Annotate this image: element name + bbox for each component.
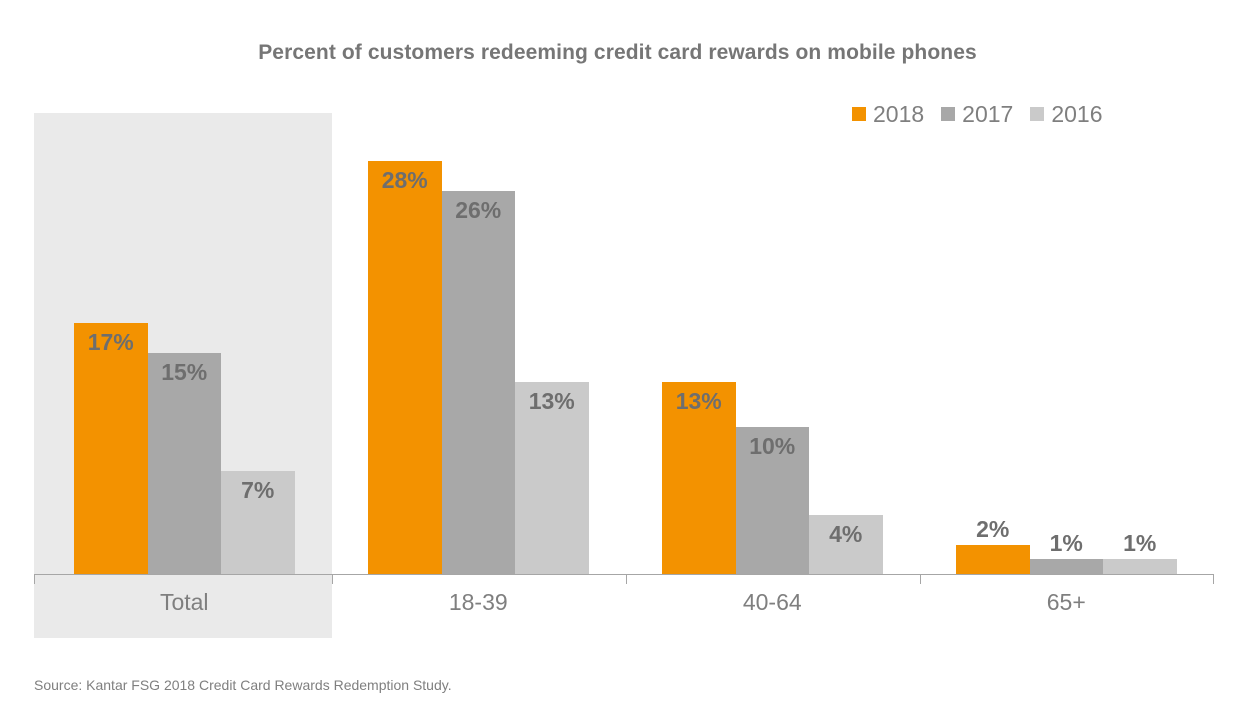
bar-label-2016-40-64: 4% — [809, 521, 883, 548]
bar-2017-18-39[interactable] — [442, 191, 516, 575]
axis-tick-1 — [332, 574, 333, 584]
bar-label-2017-65+: 1% — [1030, 530, 1104, 557]
bar-label-2017-Total: 15% — [148, 359, 222, 386]
bar-label-2017-40-64: 10% — [736, 433, 810, 460]
bar-2018-18-39[interactable] — [368, 161, 442, 574]
bar-label-2018-40-64: 13% — [662, 388, 736, 415]
bar-label-2018-65+: 2% — [956, 516, 1030, 543]
axis-tick-4 — [1213, 574, 1214, 584]
bar-label-2018-18-39: 28% — [368, 167, 442, 194]
bar-2018-65+[interactable] — [956, 545, 1030, 575]
bar-2016-65+[interactable] — [1103, 559, 1177, 574]
category-label-18-39: 18-39 — [328, 589, 629, 616]
bar-label-2016-Total: 7% — [221, 477, 295, 504]
category-label-65+: 65+ — [916, 589, 1217, 616]
bar-label-2016-65+: 1% — [1103, 530, 1177, 557]
bar-2017-Total[interactable] — [148, 353, 222, 574]
bar-label-2017-18-39: 26% — [442, 197, 516, 224]
source-note: Source: Kantar FSG 2018 Credit Card Rewa… — [34, 677, 452, 693]
axis-tick-0 — [34, 574, 35, 584]
category-label-40-64: 40-64 — [622, 589, 923, 616]
axis-tick-2 — [626, 574, 627, 584]
chart-container: Percent of customers redeeming credit ca… — [0, 0, 1235, 714]
bar-2017-65+[interactable] — [1030, 559, 1104, 574]
category-label-Total: Total — [34, 589, 335, 616]
plot-area: 17%15%7%28%26%13%13%10%4%2%1%1%Total18-3… — [0, 0, 1235, 714]
bar-label-2018-Total: 17% — [74, 329, 148, 356]
axis-baseline — [34, 574, 1213, 575]
bar-label-2016-18-39: 13% — [515, 388, 589, 415]
axis-tick-3 — [920, 574, 921, 584]
bar-2018-Total[interactable] — [74, 323, 148, 574]
